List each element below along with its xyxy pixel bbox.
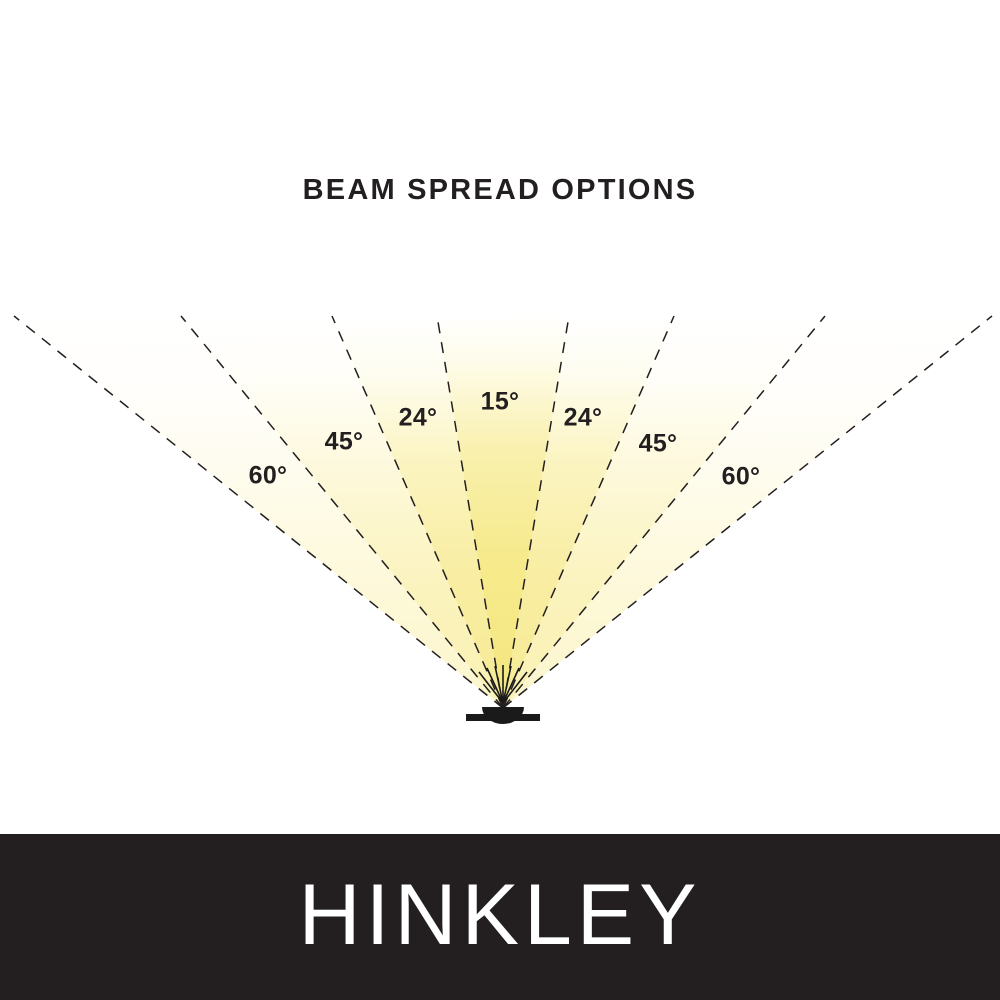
ground-line (466, 714, 540, 721)
angle-label-15-center: 15° (481, 388, 520, 417)
brand-footer: HINKLEY (0, 834, 1000, 1000)
beam-diagram-graphic (0, 0, 1000, 840)
angle-label-24-left: 24° (399, 404, 438, 433)
angle-label-45-right: 45° (639, 430, 678, 459)
angle-label-45-left: 45° (325, 428, 364, 457)
angle-label-24-right: 24° (564, 404, 603, 433)
beam-spread-diagram-page: BEAM SPREAD OPTIONS (0, 0, 1000, 1000)
angle-label-60-right: 60° (722, 463, 761, 492)
angle-label-60-left: 60° (249, 462, 288, 491)
brand-wordmark: HINKLEY (298, 872, 701, 962)
